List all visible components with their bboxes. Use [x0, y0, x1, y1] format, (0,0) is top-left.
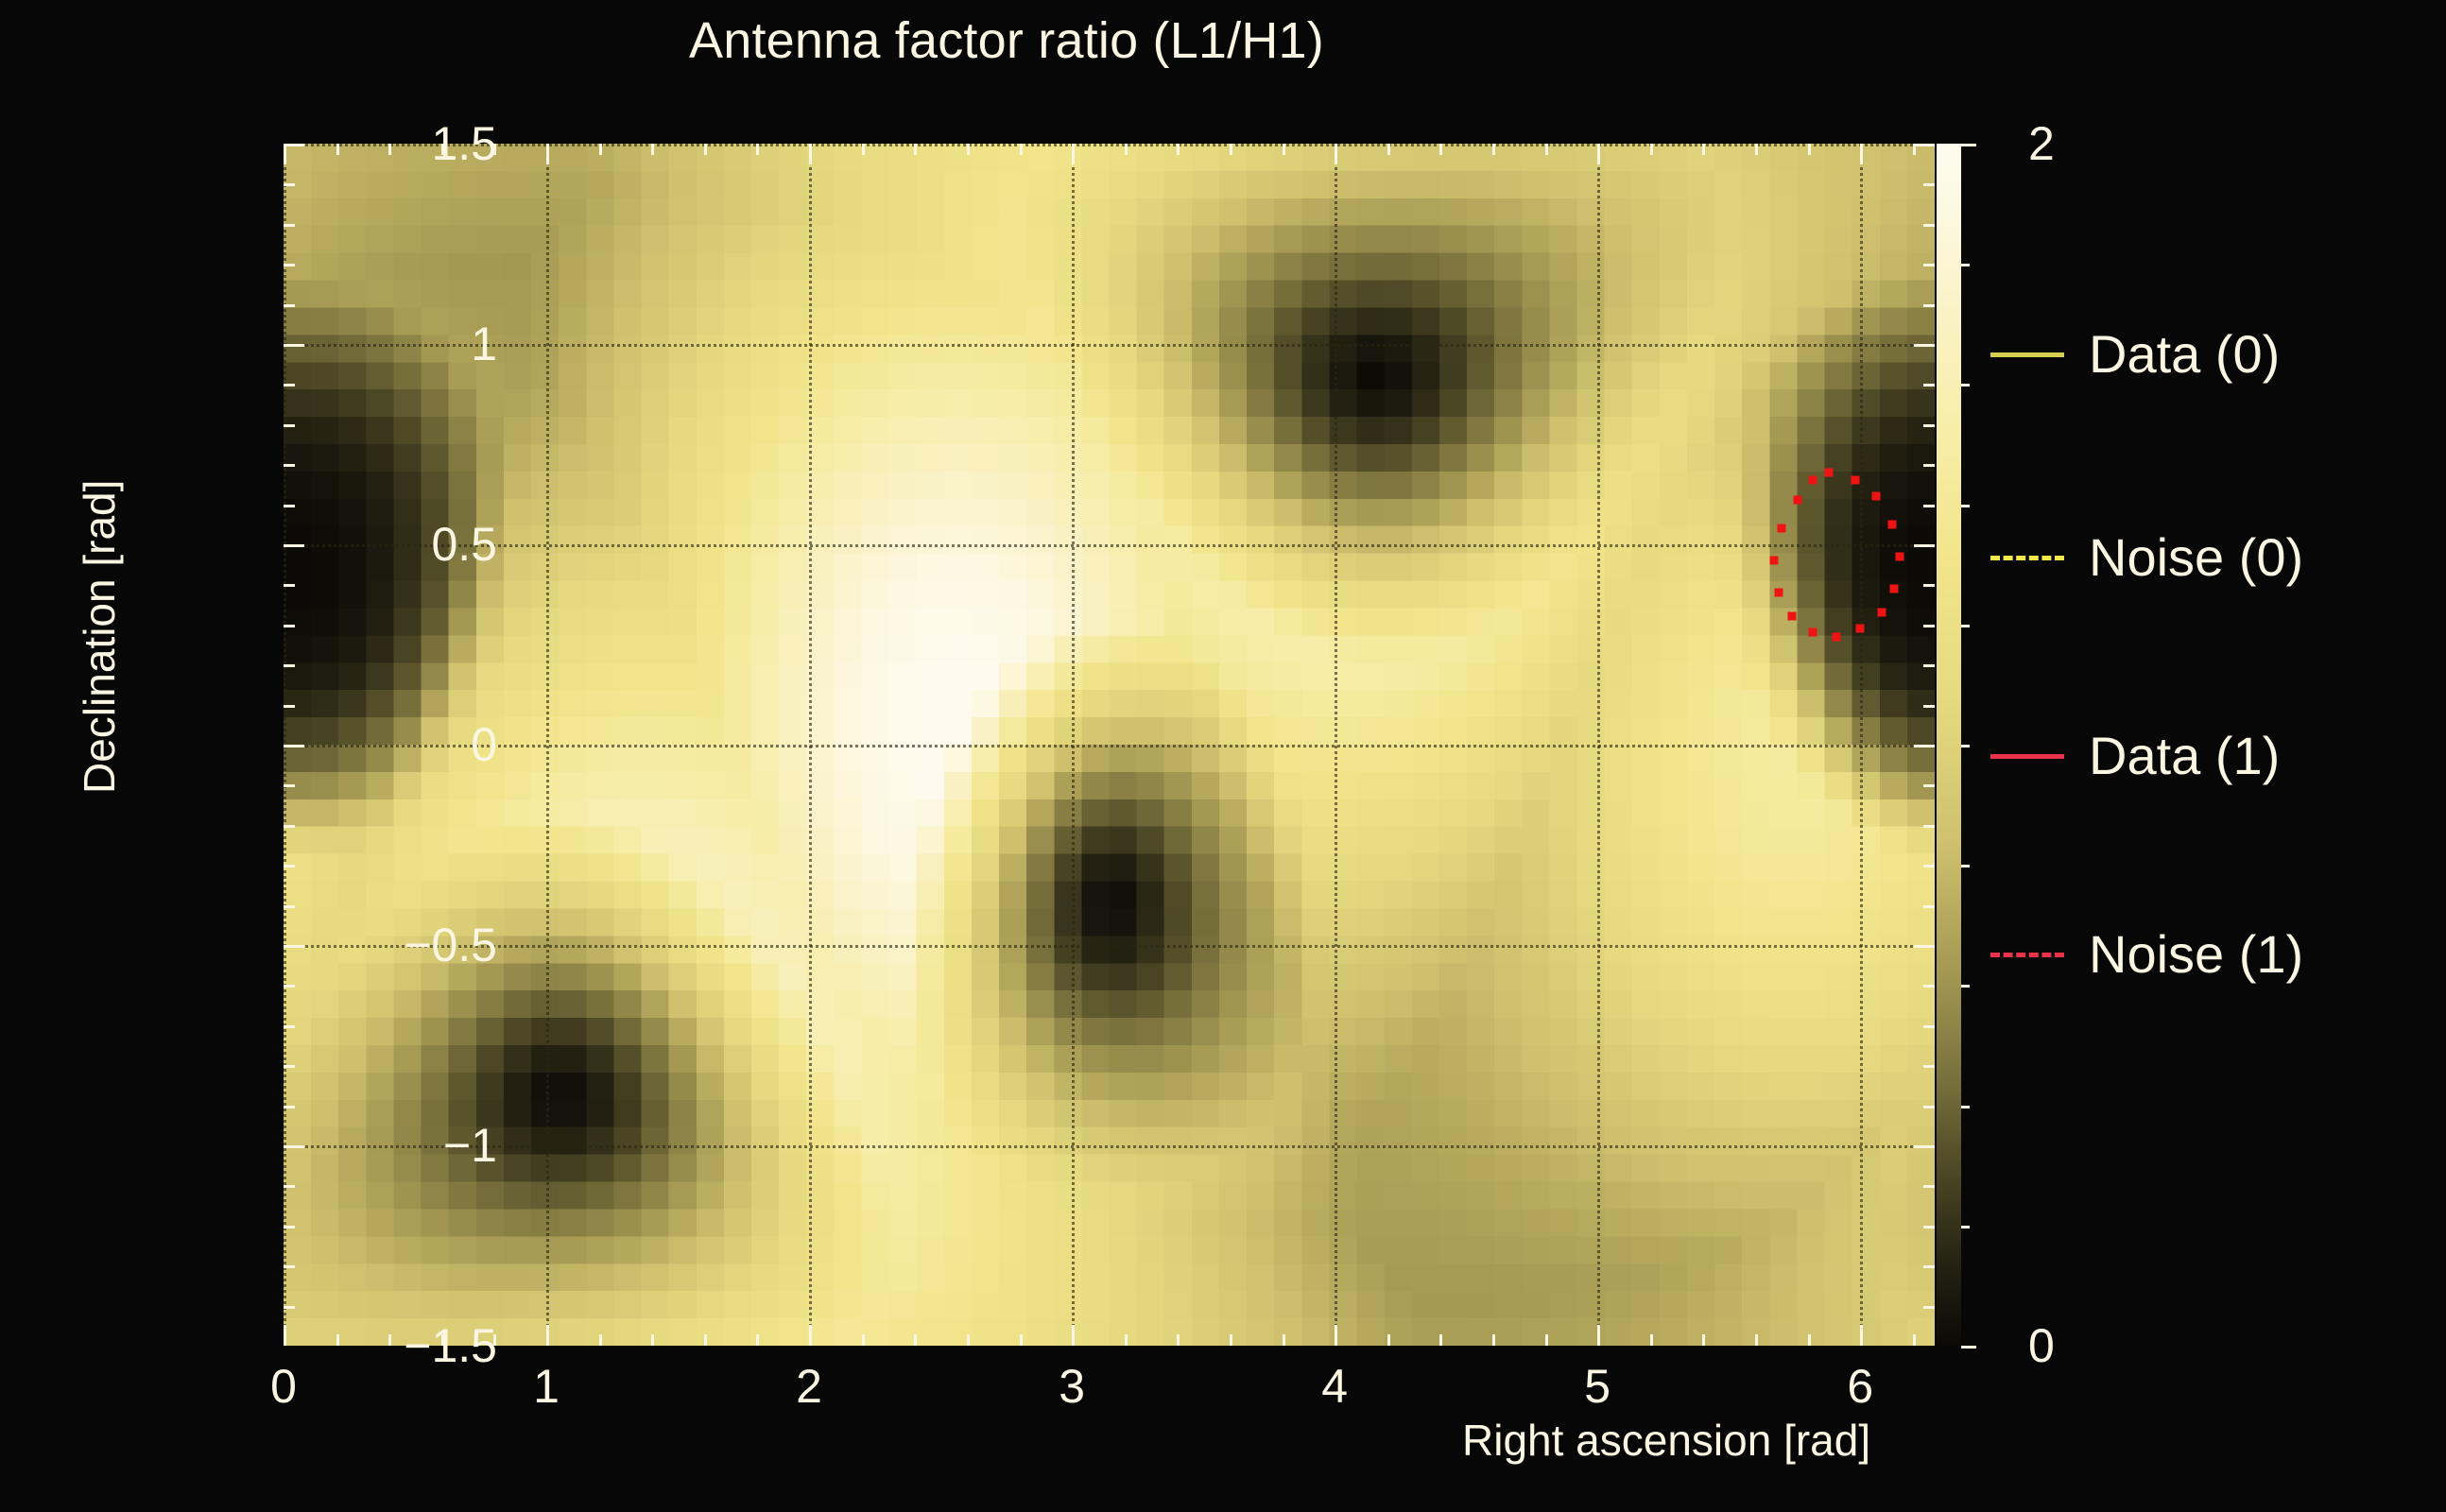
x-tick-minor: [704, 1334, 707, 1346]
x-tick-minor-top: [1283, 144, 1285, 155]
legend-swatch-solid-icon: [1990, 352, 2064, 357]
y-tick-minor-right: [1923, 945, 1935, 948]
x-tick-minor: [651, 1334, 654, 1346]
y-tick-minor-right: [1923, 384, 1935, 387]
y-tick-minor-right: [1923, 865, 1935, 868]
x-tick-minor-top: [1492, 144, 1495, 155]
y-tick-minor-right: [1923, 985, 1935, 988]
y-tick-minor: [284, 1226, 295, 1228]
contour-point: [1877, 609, 1886, 617]
y-tick-minor: [284, 784, 295, 787]
x-tick-major-top: [1860, 144, 1863, 164]
y-tick-minor: [284, 1145, 295, 1148]
x-tick-major-top: [1072, 144, 1075, 164]
plot-canvas: Antenna factor ratio (L1/H1) 1.510.50−0.…: [0, 0, 2446, 1512]
y-tick-minor-right: [1923, 264, 1935, 266]
x-tick-minor-top: [1808, 144, 1811, 155]
x-tick-minor: [967, 1334, 970, 1346]
y-tick-minor: [284, 505, 295, 507]
legend-item-noise-0[interactable]: Noise (0): [1990, 529, 2435, 586]
colorbar-tick-minor: [1961, 865, 1970, 868]
x-tick-major-top: [284, 144, 286, 164]
y-tick-minor: [284, 584, 295, 587]
x-tick-minor: [1913, 1334, 1916, 1346]
y-tick-minor: [284, 464, 295, 467]
x-tick-minor-top: [914, 144, 917, 155]
colorbar-tick-minor: [1961, 1226, 1970, 1228]
y-tick-major-right: [1914, 344, 1935, 347]
x-tick-major: [284, 1325, 286, 1346]
y-tick-minor-right: [1923, 905, 1935, 908]
legend-label: Noise (0): [2089, 531, 2303, 584]
legend-item-data-1[interactable]: Data (1): [1990, 728, 2435, 784]
x-axis-title: Right ascension [rad]: [1462, 1415, 1870, 1466]
contour-point: [1793, 496, 1801, 505]
x-tick-minor: [914, 1334, 917, 1346]
x-tick-major: [546, 1325, 549, 1346]
y-tick-minor: [284, 625, 295, 627]
y-tick-label: −1: [443, 1118, 497, 1173]
colorbar-tick-minor: [1961, 745, 1970, 747]
x-tick-minor: [1387, 1334, 1390, 1346]
y-tick-minor-right: [1923, 1145, 1935, 1148]
y-tick-minor: [284, 1106, 295, 1108]
y-tick-minor-right: [1923, 304, 1935, 307]
y-tick-minor-right: [1923, 1065, 1935, 1068]
contour-point: [1856, 625, 1865, 633]
x-tick-major-top: [546, 144, 549, 164]
x-tick-minor-top: [1913, 144, 1916, 155]
contour-point: [1787, 612, 1796, 621]
x-tick-minor: [862, 1334, 865, 1346]
colorbar: [1937, 144, 1961, 1346]
contour-point: [1887, 520, 1896, 528]
legend-label: Noise (1): [2089, 928, 2303, 981]
y-tick-label: 0: [471, 717, 497, 772]
contour-point: [1809, 628, 1817, 637]
legend-label: Data (0): [2089, 328, 2280, 381]
contour-point: [1809, 476, 1817, 485]
y-tick-minor: [284, 1265, 295, 1268]
contour-point: [1777, 524, 1785, 533]
x-tick-minor-top: [651, 144, 654, 155]
x-tick-minor: [1283, 1334, 1285, 1346]
y-tick-minor: [284, 865, 295, 868]
y-tick-minor-right: [1923, 584, 1935, 587]
y-tick-label: −0.5: [404, 918, 497, 972]
x-tick-major-top: [1335, 144, 1337, 164]
contour-point: [1824, 468, 1833, 476]
y-axis-title: Declination [rad]: [74, 480, 125, 794]
x-tick-minor-top: [599, 144, 602, 155]
colorbar-tick-minor: [1961, 384, 1970, 387]
y-tick-major: [284, 144, 304, 146]
y-tick-minor: [284, 905, 295, 908]
colorbar-tick-minor: [1961, 985, 1970, 988]
x-tick-minor-top: [336, 144, 339, 155]
x-tick-major-top: [809, 144, 812, 164]
y-tick-major-right: [1914, 144, 1935, 146]
y-tick-minor: [284, 264, 295, 266]
y-tick-major-right: [1914, 544, 1935, 547]
x-tick-minor-top: [1177, 144, 1180, 155]
x-tick-minor: [599, 1334, 602, 1346]
x-tick-minor-top: [1230, 144, 1232, 155]
y-tick-label: 1.5: [431, 116, 497, 171]
x-tick-label: 2: [796, 1359, 822, 1414]
contour-point: [1895, 552, 1903, 560]
contour-point: [1833, 632, 1841, 641]
x-tick-minor-top: [1439, 144, 1442, 155]
colorbar-tick-minor: [1961, 144, 1970, 146]
y-tick-minor: [284, 945, 295, 948]
y-tick-minor: [284, 183, 295, 186]
y-tick-minor: [284, 1306, 295, 1309]
x-tick-minor: [388, 1334, 391, 1346]
y-tick-minor: [284, 1065, 295, 1068]
y-tick-major: [284, 745, 304, 747]
y-tick-label: 1: [471, 317, 497, 371]
contour-point: [1775, 588, 1783, 596]
legend-item-noise-1[interactable]: Noise (1): [1990, 926, 2435, 983]
x-tick-minor: [756, 1334, 759, 1346]
x-tick-label: 4: [1321, 1359, 1348, 1414]
y-tick-minor-right: [1923, 183, 1935, 186]
x-tick-minor: [336, 1334, 339, 1346]
y-tick-major: [284, 344, 304, 347]
x-tick-label: 1: [533, 1359, 560, 1414]
x-tick-major: [1597, 1325, 1600, 1346]
x-tick-minor: [1545, 1334, 1548, 1346]
legend-swatch-dashed-icon: [1990, 556, 2064, 560]
colorbar-tick-major: [1961, 1346, 1976, 1349]
legend-item-data-0[interactable]: Data (0): [1990, 326, 2435, 383]
x-tick-minor-top: [967, 144, 970, 155]
x-tick-major: [1335, 1325, 1337, 1346]
y-tick-minor-right: [1923, 1306, 1935, 1309]
colorbar-tick-minor: [1961, 505, 1970, 507]
x-tick-minor: [1177, 1334, 1180, 1346]
x-tick-minor: [1755, 1334, 1758, 1346]
x-tick-minor-top: [1387, 144, 1390, 155]
x-tick-minor-top: [388, 144, 391, 155]
x-tick-major: [1072, 1325, 1075, 1346]
x-tick-minor: [1020, 1334, 1023, 1346]
x-tick-minor: [1492, 1334, 1495, 1346]
x-tick-minor: [1230, 1334, 1232, 1346]
x-tick-minor: [1125, 1334, 1128, 1346]
y-tick-minor-right: [1923, 1025, 1935, 1028]
x-tick-major: [1860, 1325, 1863, 1346]
x-tick-minor: [1439, 1334, 1442, 1346]
y-tick-minor-right: [1923, 1265, 1935, 1268]
colorbar-tick-minor: [1961, 1106, 1970, 1108]
heatmap-plot-area[interactable]: [284, 144, 1935, 1346]
y-tick-minor: [284, 424, 295, 427]
y-tick-minor-right: [1923, 625, 1935, 627]
colorbar-tick-minor: [1961, 625, 1970, 627]
x-tick-minor-top: [1125, 144, 1128, 155]
x-tick-minor-top: [1702, 144, 1705, 155]
x-tick-minor-top: [862, 144, 865, 155]
y-tick-minor-right: [1923, 1185, 1935, 1188]
x-tick-minor-top: [756, 144, 759, 155]
y-tick-minor-right: [1923, 224, 1935, 227]
y-tick-minor-right: [1923, 825, 1935, 828]
colorbar-tick-minor: [1961, 264, 1970, 266]
x-tick-minor-top: [1545, 144, 1548, 155]
legend[interactable]: Data (0)Noise (0)Data (1)Noise (1): [1990, 161, 2435, 1332]
y-tick-major: [284, 544, 304, 547]
y-tick-minor: [284, 985, 295, 988]
y-tick-minor: [284, 384, 295, 387]
y-tick-label: 0.5: [431, 517, 497, 572]
x-tick-label: 0: [270, 1359, 297, 1414]
y-tick-major-right: [1914, 745, 1935, 747]
x-tick-minor: [1650, 1334, 1653, 1346]
legend-label: Data (1): [2089, 730, 2280, 782]
x-tick-major: [809, 1325, 812, 1346]
page-title: Antenna factor ratio (L1/H1): [0, 11, 2013, 70]
y-tick-minor-right: [1923, 424, 1935, 427]
y-tick-minor-right: [1923, 464, 1935, 467]
x-tick-minor-top: [1020, 144, 1023, 155]
y-tick-minor-right: [1923, 505, 1935, 507]
y-tick-minor-right: [1923, 664, 1935, 667]
contour-point: [1769, 556, 1778, 564]
x-tick-label: 5: [1584, 1359, 1611, 1414]
y-tick-label: −1.5: [404, 1318, 497, 1373]
y-tick-minor: [284, 1025, 295, 1028]
x-tick-major-top: [1597, 144, 1600, 164]
y-tick-minor: [284, 664, 295, 667]
y-tick-minor: [284, 825, 295, 828]
y-tick-minor: [284, 705, 295, 708]
contour-point: [1890, 584, 1899, 593]
y-tick-minor-right: [1923, 1106, 1935, 1108]
x-tick-minor-top: [704, 144, 707, 155]
legend-swatch-solid-icon: [1990, 754, 2064, 759]
x-tick-minor-top: [1650, 144, 1653, 155]
legend-swatch-dashed-icon: [1990, 953, 2064, 957]
y-tick-minor: [284, 1185, 295, 1188]
heatmap-image: [284, 144, 1935, 1346]
y-tick-minor-right: [1923, 784, 1935, 787]
x-tick-minor-top: [1755, 144, 1758, 155]
y-tick-minor-right: [1923, 1226, 1935, 1228]
contour-point: [1871, 492, 1880, 501]
x-tick-minor: [1808, 1334, 1811, 1346]
x-tick-minor: [1702, 1334, 1705, 1346]
contour-point: [1851, 476, 1859, 485]
y-tick-minor-right: [1923, 705, 1935, 708]
x-tick-label: 3: [1059, 1359, 1085, 1414]
x-tick-label: 6: [1847, 1359, 1873, 1414]
y-tick-minor: [284, 224, 295, 227]
y-tick-minor: [284, 304, 295, 307]
